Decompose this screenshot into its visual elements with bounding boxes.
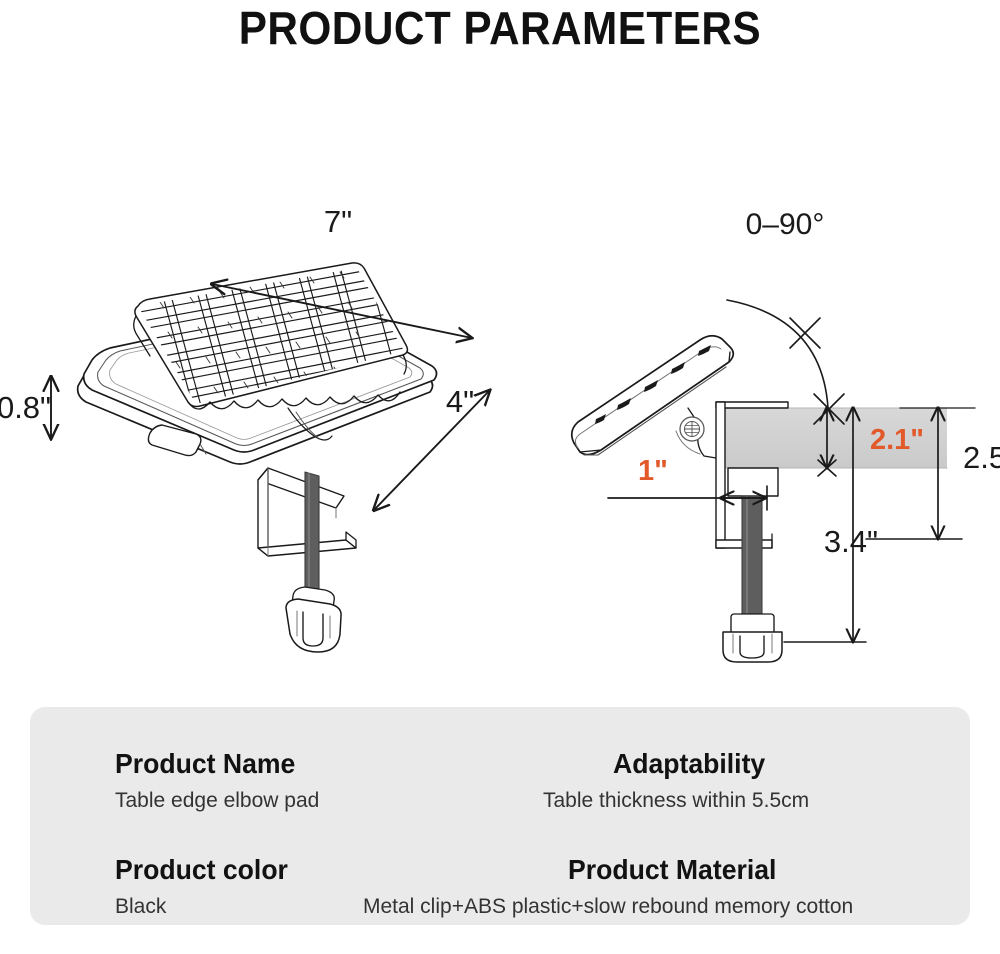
label-desk-thickness-21in: 2.1": [870, 424, 924, 456]
spec-value-product-color: Black: [115, 896, 297, 918]
spec-value-adaptability: Table thickness within 5.5cm: [543, 790, 809, 812]
spec-header-product-color: Product color: [115, 855, 288, 884]
spec-cell-product-material: Product Material Metal clip+ABS plastic+…: [338, 855, 853, 918]
spec-value-product-name: Table edge elbow pad: [115, 790, 319, 812]
label-clamp-width-1in: 1": [638, 455, 668, 487]
spec-header-product-name: Product Name: [115, 749, 309, 778]
label-thickness-08in: 0.8": [0, 390, 51, 425]
label-depth-4in: 4": [446, 384, 474, 419]
spec-cell-product-name: Product Name Table edge elbow pad: [115, 749, 319, 812]
label-rotation-0-90: 0–90°: [746, 208, 825, 241]
pad-clamp-assembly: [258, 468, 356, 652]
page-title-container: PRODUCT PARAMETERS: [0, 0, 1000, 56]
spec-panel: Product Name Table edge elbow pad Adapta…: [30, 707, 970, 925]
spec-value-product-material: Metal clip+ABS plastic+slow rebound memo…: [363, 896, 853, 918]
label-width-7in: 7": [324, 204, 352, 239]
spec-cell-product-color: Product color Black: [115, 855, 297, 918]
page-title: PRODUCT PARAMETERS: [239, 5, 761, 51]
spec-grid: Product Name Table edge elbow pad Adapta…: [30, 707, 970, 925]
product-parameters-page: PRODUCT PARAMETERS: [0, 0, 1000, 954]
label-total-height-34in: 3.4": [824, 524, 878, 559]
diagram-left-isometric: [51, 226, 490, 652]
spec-header-product-material: Product Material: [568, 855, 839, 884]
label-upper-height-25in: 2.5": [963, 440, 1000, 475]
product-diagrams: 7" 4" 0.8": [0, 56, 1000, 696]
spec-cell-adaptability: Adaptability Table thickness within 5.5c…: [543, 749, 809, 812]
diagram-right-side-view: [572, 300, 975, 662]
tilted-pad-profile: [572, 336, 734, 459]
spec-header-adaptability: Adaptability: [613, 749, 799, 778]
